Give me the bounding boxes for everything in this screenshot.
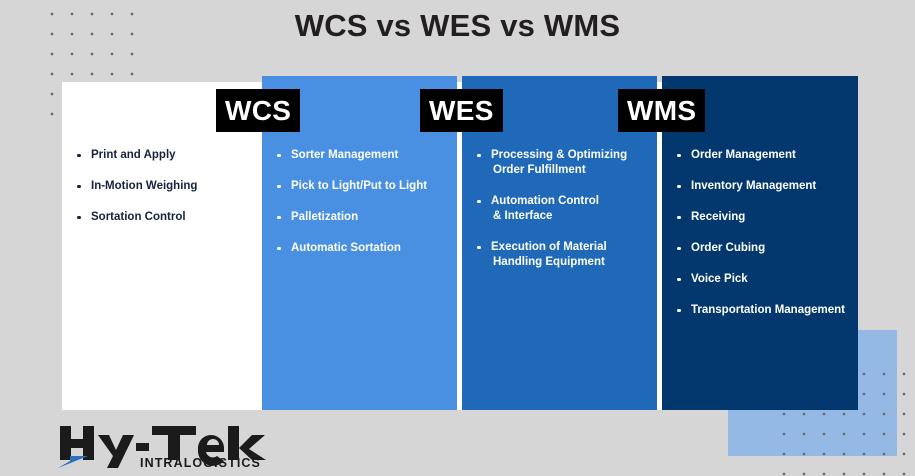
list-item: Automatic Sortation [274, 241, 454, 256]
list-item-label: Inventory Management [691, 180, 816, 192]
list-item-label: Voice Pick [691, 273, 748, 285]
list-item-label: Pick to Light/Put to Light [291, 180, 427, 192]
list-item: Automation Control& Interface [474, 194, 656, 224]
list-item-label-line2: Order Fulfillment [491, 163, 656, 178]
feature-list-wcs: Print and ApplyIn-Motion WeighingSortati… [74, 148, 254, 241]
list-item-label: Transportation Management [691, 304, 845, 316]
list-item: Sorter Management [274, 148, 454, 163]
list-item-label: Execution of Material [491, 241, 607, 253]
list-item-label: Order Cubing [691, 242, 765, 254]
list-item-label-line2: & Interface [491, 209, 656, 224]
list-item: Transportation Management [674, 303, 860, 318]
list-item-label: Receiving [691, 211, 745, 223]
list-item: Order Management [674, 148, 860, 163]
list-item: Palletization [274, 210, 454, 225]
list-item-label: Automation Control [491, 195, 599, 207]
hytek-logo: INTRALOGISTICS [58, 424, 268, 470]
feature-list-wms: Order ManagementInventory ManagementRece… [674, 148, 860, 334]
list-item: Order Cubing [674, 241, 860, 256]
feature-list-wes-extended: Processing & OptimizingOrder Fulfillment… [474, 148, 656, 286]
list-item-label: Automatic Sortation [291, 242, 401, 254]
list-item-label-line2: Handling Equipment [491, 255, 656, 270]
list-item-label: Palletization [291, 211, 358, 223]
feature-list-wes: Sorter ManagementPick to Light/Put to Li… [274, 148, 454, 272]
page-title: WCS vs WES vs WMS [0, 8, 915, 44]
list-item: Inventory Management [674, 179, 860, 194]
list-item-label: Print and Apply [91, 149, 176, 161]
list-item: In-Motion Weighing [74, 179, 254, 194]
list-item: Processing & OptimizingOrder Fulfillment [474, 148, 656, 178]
list-item: Voice Pick [674, 272, 860, 287]
list-item-label: Sortation Control [91, 211, 186, 223]
list-item: Execution of MaterialHandling Equipment [474, 240, 656, 270]
list-item: Sortation Control [74, 210, 254, 225]
column-header-wms: WMS [618, 89, 705, 132]
list-item: Pick to Light/Put to Light [274, 179, 454, 194]
list-item-label: Sorter Management [291, 149, 398, 161]
list-item-label: In-Motion Weighing [91, 180, 197, 192]
list-item-label: Order Management [691, 149, 796, 161]
column-header-wes: WES [420, 89, 503, 132]
list-item-label: Processing & Optimizing [491, 149, 627, 161]
list-item: Print and Apply [74, 148, 254, 163]
column-header-wcs: WCS [216, 89, 300, 132]
list-item: Receiving [674, 210, 860, 225]
logo-tagline: INTRALOGISTICS [140, 456, 261, 470]
